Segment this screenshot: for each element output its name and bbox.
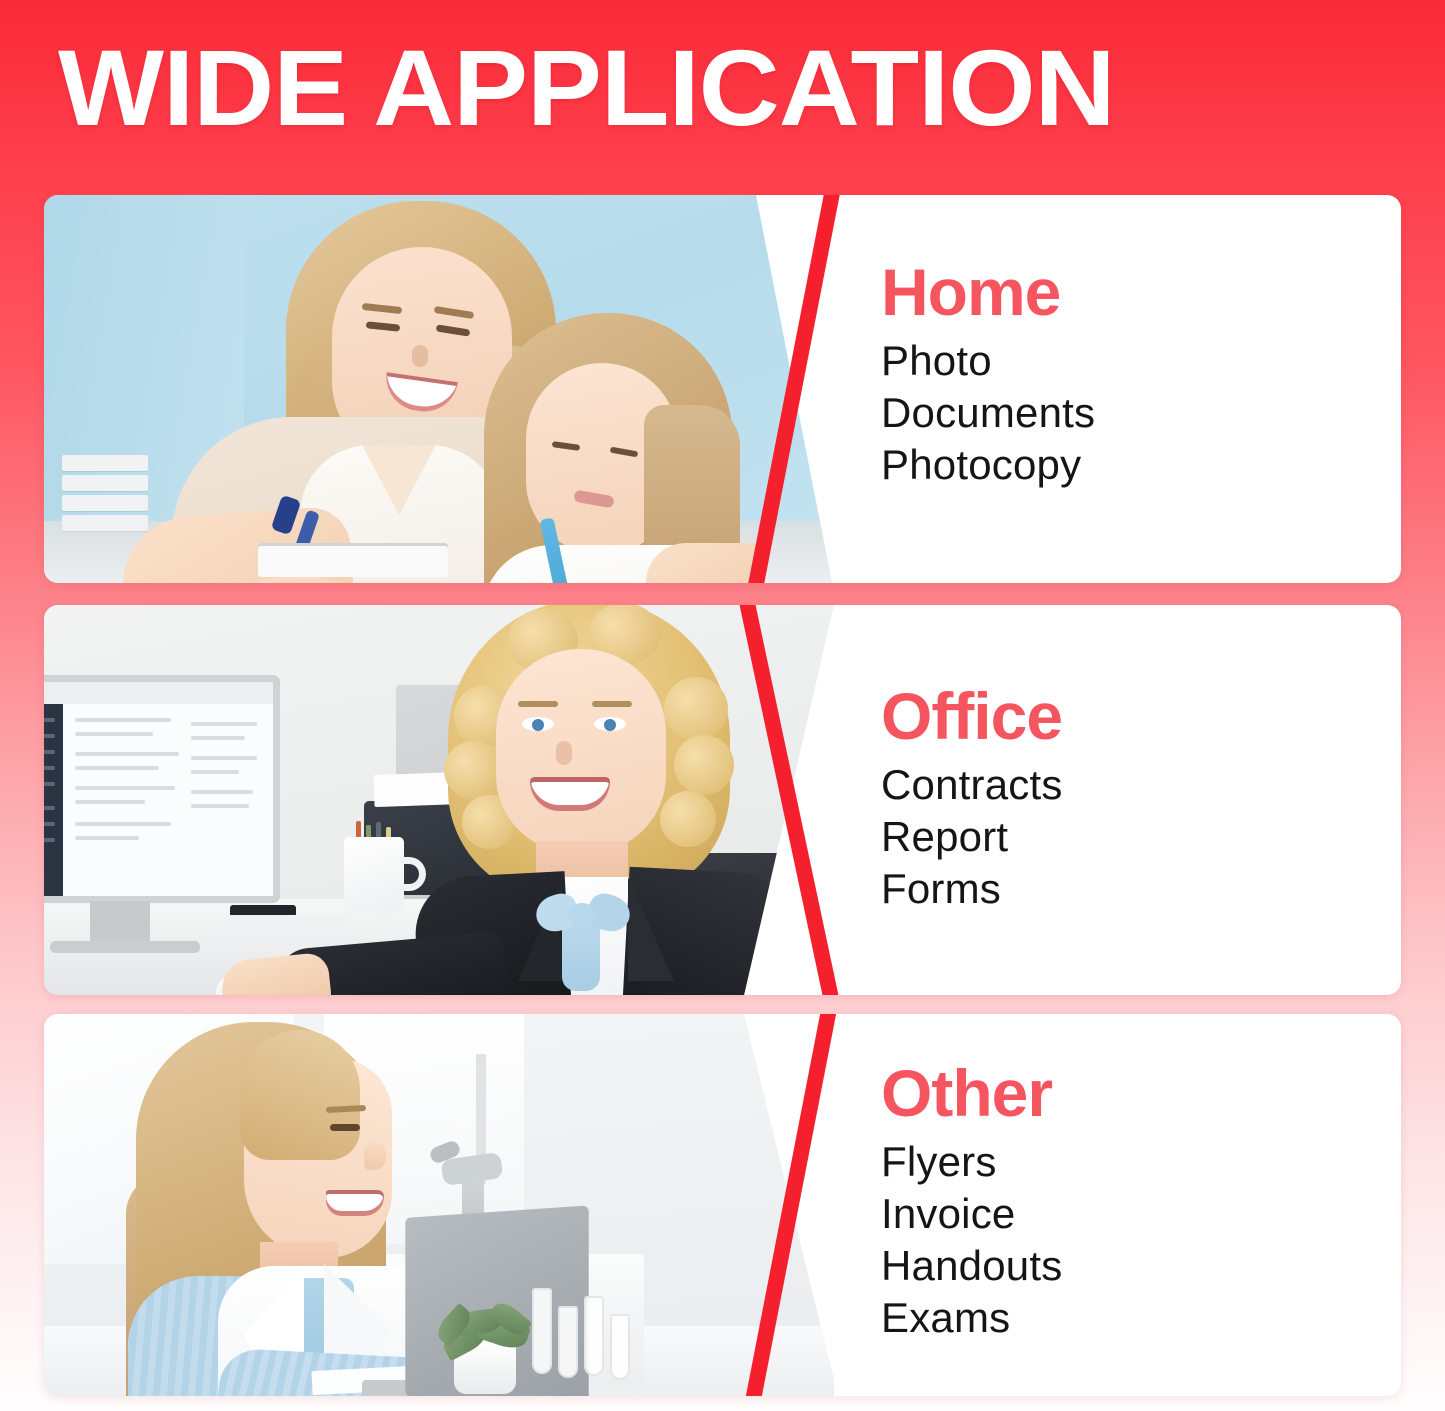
office-monitor xyxy=(44,675,280,903)
card-office-text: Office Contracts Report Forms xyxy=(841,605,1401,995)
card-office-item-list: Contracts Report Forms xyxy=(881,759,1401,915)
application-card-home[interactable]: Home Photo Documents Photocopy xyxy=(44,195,1401,583)
office-keyboard xyxy=(226,915,346,933)
office-woman-brow-left xyxy=(518,701,558,707)
list-item: Contracts xyxy=(881,759,1401,811)
home-notebook xyxy=(258,543,448,577)
office-monitor-screen xyxy=(44,682,273,896)
office-woman-iris-left xyxy=(532,719,544,731)
card-office-photo xyxy=(44,605,834,995)
office-woman-face xyxy=(496,649,666,853)
office-woman-iris-right xyxy=(604,719,616,731)
list-item: Documents xyxy=(881,387,1401,439)
list-item: Flyers xyxy=(881,1136,1401,1188)
lab-woman-smile xyxy=(326,1190,384,1216)
card-home-photo xyxy=(44,195,834,583)
office-woman-bow-tie xyxy=(536,891,630,991)
list-item: Invoice xyxy=(881,1188,1401,1240)
list-item: Exams xyxy=(881,1292,1401,1344)
home-scene xyxy=(44,195,834,583)
office-screen-topbar xyxy=(44,682,273,704)
list-item: Photo xyxy=(881,335,1401,387)
application-card-other[interactable]: Other Flyers Invoice Handouts Exams xyxy=(44,1014,1401,1396)
list-item: Report xyxy=(881,811,1401,863)
lab-woman-hair-front xyxy=(240,1030,360,1160)
list-item: Photocopy xyxy=(881,439,1401,491)
card-home-heading: Home xyxy=(881,257,1401,327)
card-office-heading: Office xyxy=(881,681,1401,751)
office-scene xyxy=(44,605,834,995)
header-band: WIDE APPLICATION xyxy=(0,0,1445,182)
list-item: Forms xyxy=(881,863,1401,915)
lab-scene xyxy=(44,1014,834,1396)
home-book-stack xyxy=(62,447,148,531)
test-tube-2 xyxy=(558,1306,578,1378)
card-home-item-list: Photo Documents Photocopy xyxy=(881,335,1401,491)
card-other-item-list: Flyers Invoice Handouts Exams xyxy=(881,1136,1401,1344)
card-other-text: Other Flyers Invoice Handouts Exams xyxy=(841,1014,1401,1396)
office-monitor-base xyxy=(50,941,200,953)
home-mother-nose xyxy=(412,345,428,367)
page-title: WIDE APPLICATION xyxy=(58,32,1115,144)
card-other-photo xyxy=(44,1014,834,1396)
office-screen-sidebar xyxy=(44,704,63,896)
test-tube-3 xyxy=(584,1296,604,1376)
card-home-text: Home Photo Documents Photocopy xyxy=(841,195,1401,583)
list-item: Handouts xyxy=(881,1240,1401,1292)
office-woman-brow-right xyxy=(592,701,632,707)
office-monitor-stand xyxy=(90,901,150,945)
test-tube-1 xyxy=(532,1288,552,1374)
office-mug xyxy=(344,837,404,913)
lab-woman-nose xyxy=(364,1142,386,1170)
test-tube-4 xyxy=(610,1314,630,1380)
lab-woman-eye xyxy=(330,1124,360,1131)
promo-banner: WIDE APPLICATION xyxy=(0,0,1445,1411)
application-card-office[interactable]: Office Contracts Report Forms xyxy=(44,605,1401,995)
office-woman-nose xyxy=(556,741,572,765)
home-girl-shoulder xyxy=(646,543,762,583)
card-other-heading: Other xyxy=(881,1058,1401,1128)
